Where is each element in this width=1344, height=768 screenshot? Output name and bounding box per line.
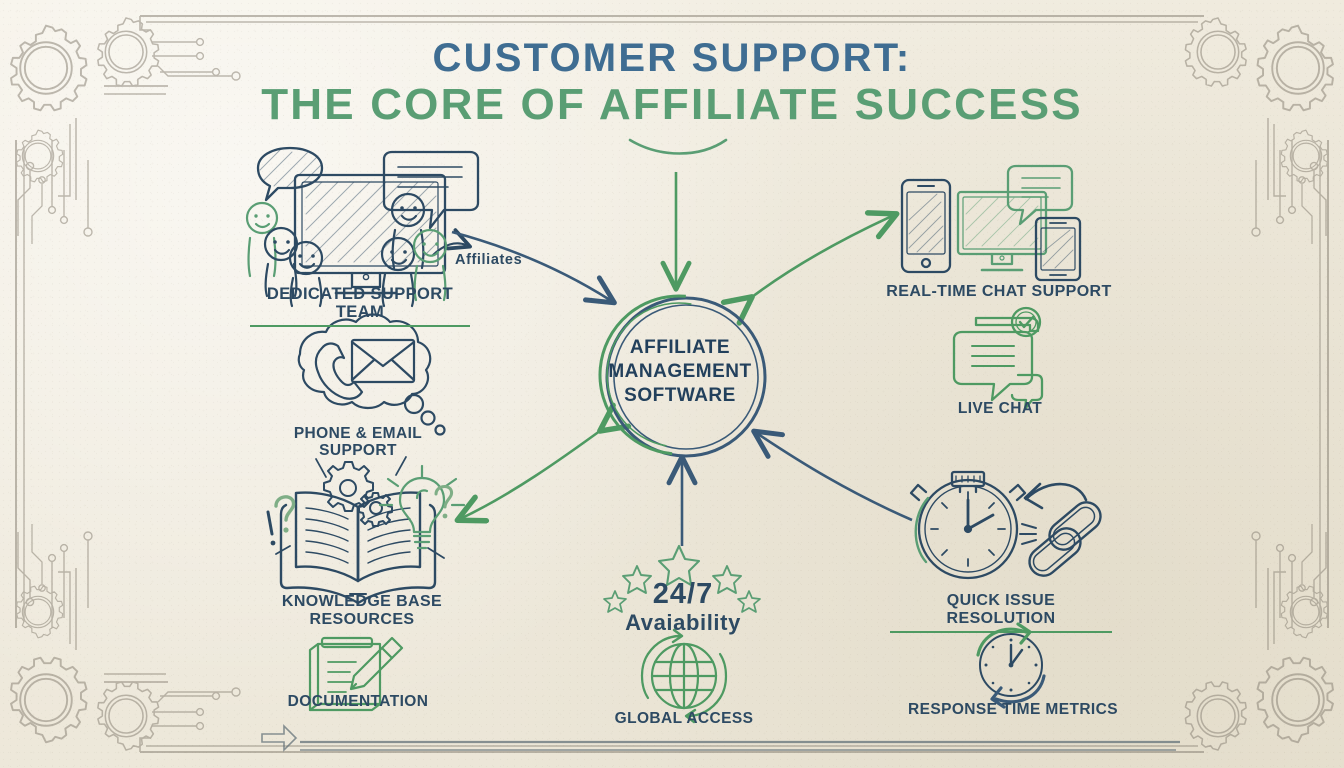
title-line-1: Customer Support: [0,36,1344,81]
label-phone-email-support: Phone & Email Support [258,425,458,460]
label-real-time-chat-support: Real-Time Chat Support [886,283,1112,301]
label-dedicated-support-team: Dedicated Support Team [250,285,470,327]
center-hub-label: Affiliate Management Software [592,336,768,407]
label-documentation: Documentation [268,693,448,710]
label-response-time-metrics: Response Time Metrics [908,701,1118,718]
availability-label: Avaiability [598,610,768,636]
label-live-chat: Live Chat [940,400,1060,417]
label-knowledge-base-resources: Knowledge Base Resources [262,593,462,629]
title-line-2: The Core of Affiliate Success [0,80,1344,130]
infographic-canvas: Customer Support: The Core of Affiliate … [0,0,1344,768]
availability-value: 24/7 [608,578,758,611]
label-quick-issue-resolution: Quick Issue Resolution [890,592,1112,633]
label-global-access: Global Access [612,710,756,727]
affiliates-connector-label: Affiliates [455,252,522,268]
